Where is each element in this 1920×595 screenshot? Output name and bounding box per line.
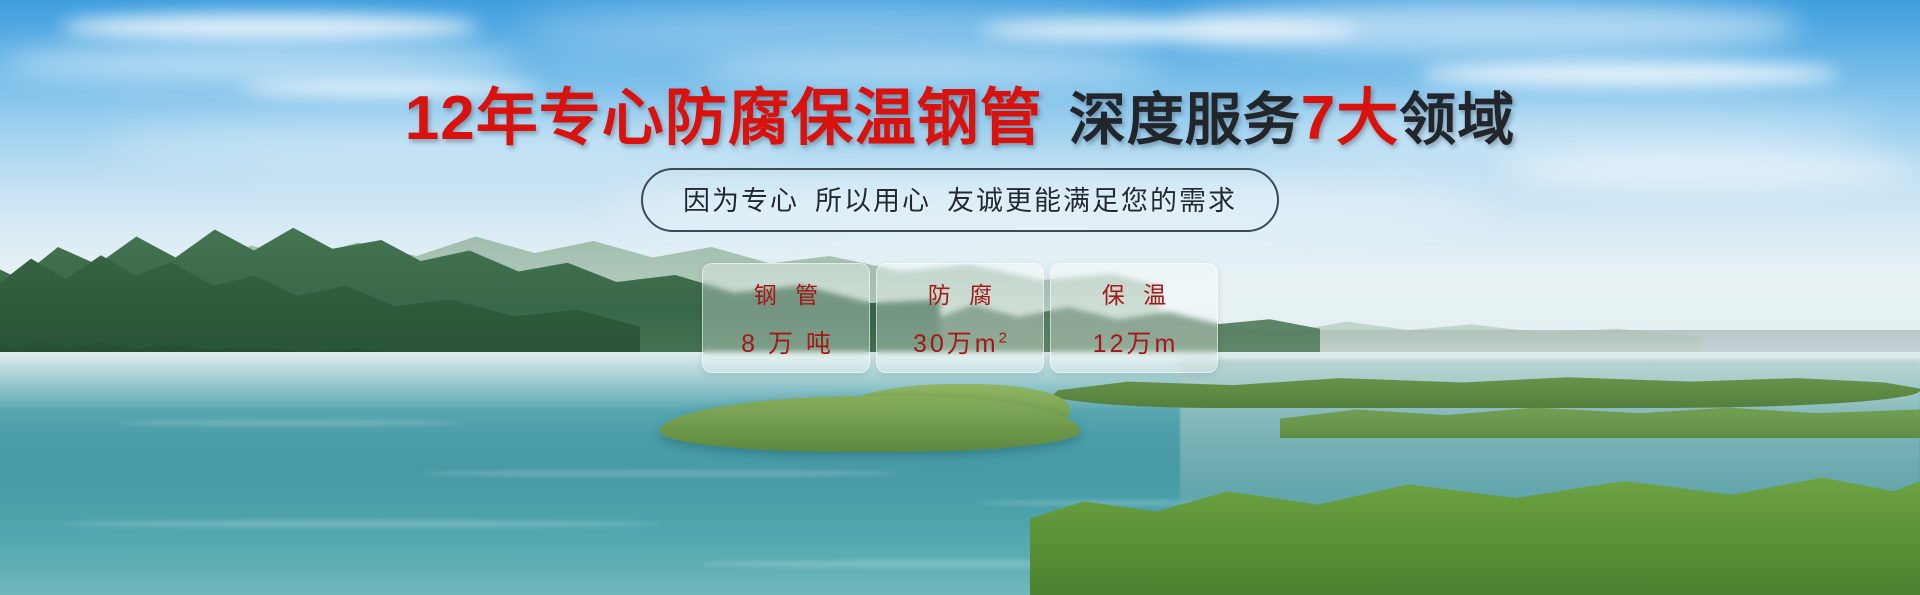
headline-segment-2: 深度服务 xyxy=(1069,88,1301,152)
stat-card-value: 12万m xyxy=(1090,324,1179,360)
stat-card-steel-pipe: 钢 管 8 万 吨 xyxy=(702,263,870,373)
subtitle-part-3: 友诚更能满足您的需求 xyxy=(947,186,1237,216)
headline-years-number: 12 xyxy=(405,84,476,153)
subtitle-pill: 因为专心所以用心友诚更能满足您的需求 xyxy=(641,168,1279,232)
headline-seven-highlight: 7大 xyxy=(1301,84,1399,153)
headline-segment-1: 年专心防腐保温钢管 xyxy=(476,84,1043,153)
banner-headline: 12年专心防腐保温钢管深度服务7大领域 xyxy=(0,88,1920,150)
banner-content: 12年专心防腐保温钢管深度服务7大领域 因为专心所以用心友诚更能满足您的需求 钢… xyxy=(0,0,1920,595)
stat-value-text: 12万m xyxy=(1093,330,1179,358)
stat-card-group: 钢 管 8 万 吨 防 腐 30万m2 保 温 12万m xyxy=(702,263,1218,373)
stat-card-insulation: 保 温 12万m xyxy=(1050,263,1218,373)
subtitle-part-2: 所以用心 xyxy=(815,186,931,216)
subtitle-part-1: 因为专心 xyxy=(683,186,799,216)
promo-banner: 12年专心防腐保温钢管深度服务7大领域 因为专心所以用心友诚更能满足您的需求 钢… xyxy=(0,0,1920,595)
stat-card-value: 30万m2 xyxy=(910,324,1010,360)
stat-card-value: 8 万 吨 xyxy=(738,324,834,360)
stat-value-text: 8 万 吨 xyxy=(741,330,834,358)
stat-value-superscript: 2 xyxy=(999,330,1010,347)
stat-card-anticorrosion: 防 腐 30万m2 xyxy=(876,263,1044,373)
stat-card-label: 防 腐 xyxy=(922,276,998,310)
stat-card-label: 保 温 xyxy=(1096,276,1172,310)
headline-segment-3: 领域 xyxy=(1399,88,1515,152)
stat-value-text: 30万m xyxy=(913,330,999,358)
stat-card-label: 钢 管 xyxy=(748,276,824,310)
